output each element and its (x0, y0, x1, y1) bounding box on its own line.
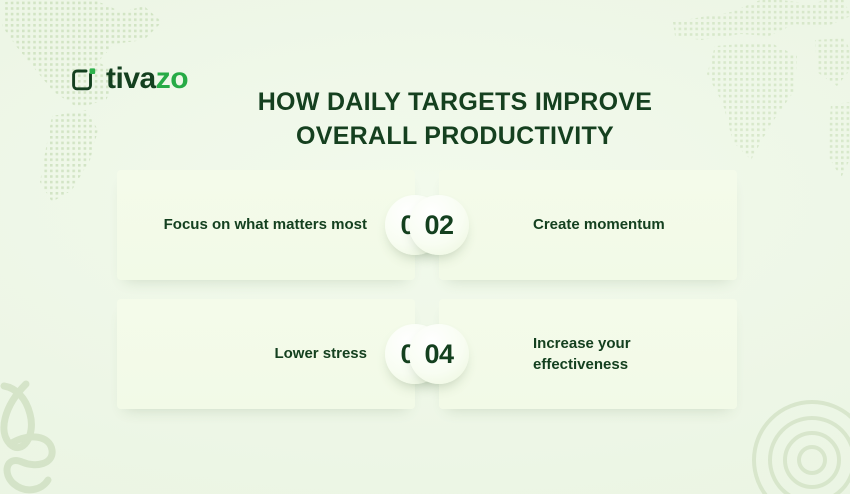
poster-header: tivazo HOW DAILY TARGETS IMPROVE OVERALL… (0, 0, 850, 160)
infographic-poster: tivazo HOW DAILY TARGETS IMPROVE OVERALL… (0, 0, 850, 494)
benefit-number-badge-04: 04 (409, 324, 469, 384)
benefit-label-04: Increase your effectiveness (533, 299, 717, 409)
benefit-label-02: Create momentum (533, 170, 717, 280)
benefits-grid: Focus on what matters most 01 Create mom… (117, 170, 737, 428)
benefit-card-02[interactable]: Create momentum 02 (439, 170, 737, 280)
benefits-row-1: Focus on what matters most 01 Create mom… (117, 170, 737, 280)
benefit-label-01: Focus on what matters most (141, 170, 367, 280)
brand-logo[interactable]: tivazo (70, 64, 188, 94)
page-title-line2: OVERALL PRODUCTIVITY (296, 122, 614, 150)
benefit-number-badge-02: 02 (409, 195, 469, 255)
page-title: HOW DAILY TARGETS IMPROVE OVERALL PRODUC… (225, 85, 685, 154)
benefit-label-03: Lower stress (141, 299, 367, 409)
brand-wordmark: tivazo (106, 64, 188, 94)
brand-name-part1: tiva (106, 62, 156, 95)
benefits-row-2: Lower stress 03 Increase your effectiven… (117, 299, 737, 409)
benefit-card-03[interactable]: Lower stress 03 (117, 299, 415, 409)
benefit-card-04[interactable]: Increase your effectiveness 04 (439, 299, 737, 409)
brand-name-part2: zo (156, 62, 188, 95)
concentric-rings-icon (728, 376, 850, 494)
squiggle-leaf-line-icon (0, 370, 116, 494)
benefit-card-01[interactable]: Focus on what matters most 01 (117, 170, 415, 280)
page-title-line1: HOW DAILY TARGETS IMPROVE (258, 88, 653, 116)
bracket-square-icon (70, 65, 97, 93)
